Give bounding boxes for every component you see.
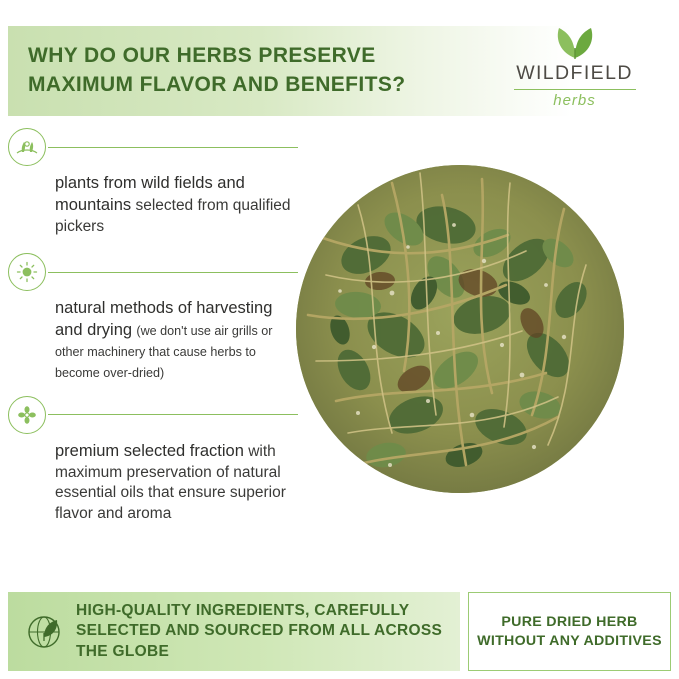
infographic-page: WHY DO OUR HERBS PRESERVE MAXIMUM FLAVOR… <box>0 0 679 679</box>
field-sprouts-icon <box>8 128 46 166</box>
feature-head <box>8 128 298 166</box>
logo-subtitle: herbs <box>487 92 662 109</box>
feature-text: natural methods of harvesting and drying… <box>55 298 298 383</box>
banner-pure-text: PURE DRIED HERB WITHOUT ANY ADDITIVES <box>469 613 670 651</box>
feature-head <box>8 396 298 434</box>
two-leaves-icon <box>487 22 662 60</box>
feature-list: plants from wild fields and mountains se… <box>8 128 298 528</box>
feature-head <box>8 253 298 291</box>
banner-quality: HIGH-QUALITY INGREDIENTS, CAREFULLY SELE… <box>8 592 460 671</box>
logo-divider <box>514 89 636 90</box>
divider <box>48 414 298 415</box>
banner-pure: PURE DRIED HERB WITHOUT ANY ADDITIVES <box>468 592 671 671</box>
feature-lead: premium selected fraction <box>55 442 244 460</box>
herb-circle-image <box>296 165 624 493</box>
banner-quality-text: HIGH-QUALITY INGREDIENTS, CAREFULLY SELE… <box>76 601 460 663</box>
divider <box>48 272 298 273</box>
brand-logo: WILDFIELD herbs <box>487 22 662 122</box>
feature-item-natural-methods: natural methods of harvesting and drying… <box>8 253 298 383</box>
feature-text: premium selected fraction with maximum p… <box>55 441 298 525</box>
page-title: WHY DO OUR HERBS PRESERVE MAXIMUM FLAVOR… <box>28 42 468 100</box>
divider <box>48 147 298 148</box>
logo-name: WILDFIELD <box>487 62 662 85</box>
globe-leaf-icon <box>16 611 72 653</box>
product-photo <box>288 160 628 505</box>
feature-item-wild-fields: plants from wild fields and mountains se… <box>8 128 298 237</box>
feature-text: plants from wild fields and mountains se… <box>55 173 298 237</box>
feature-item-premium-fraction: premium selected fraction with maximum p… <box>8 396 298 525</box>
flower-icon <box>8 396 46 434</box>
sun-icon <box>8 253 46 291</box>
